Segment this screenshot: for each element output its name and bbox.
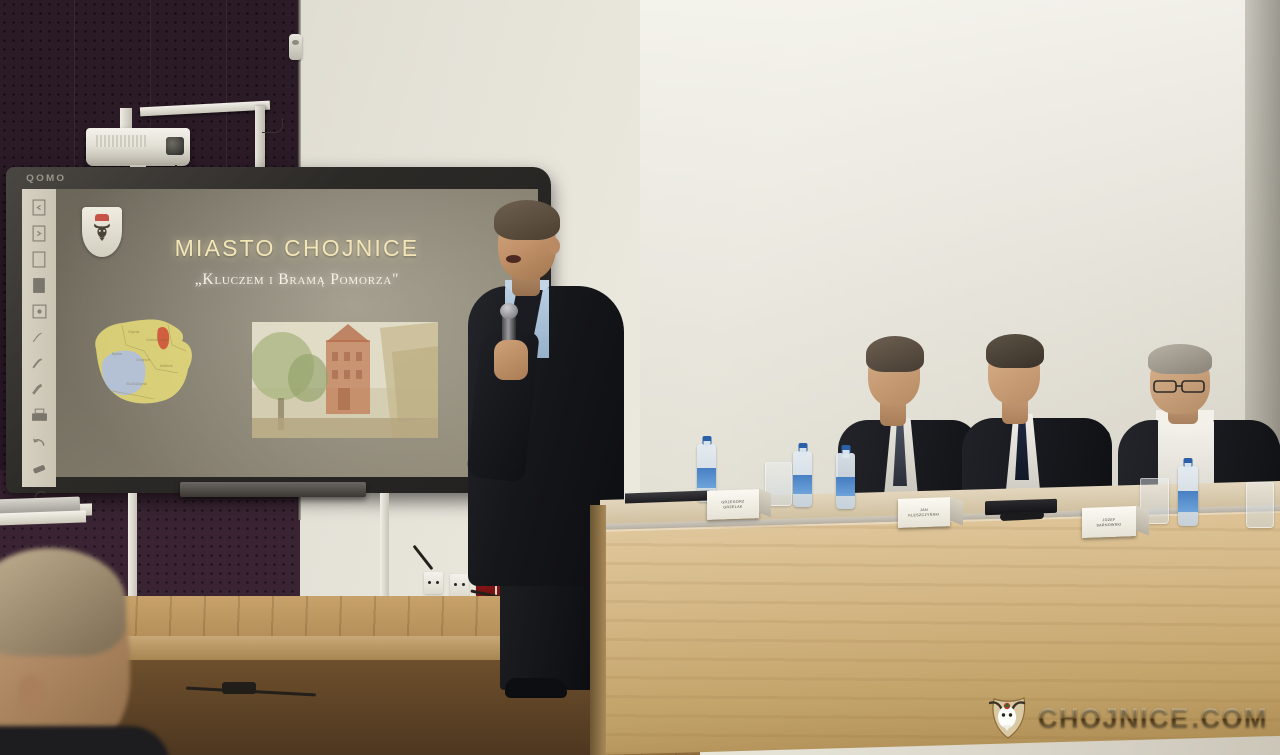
bottle-label (793, 475, 812, 494)
projector (86, 128, 190, 166)
bottle-label (1178, 491, 1198, 511)
motion-sensor-icon (289, 34, 302, 60)
bottle-neck (703, 441, 710, 449)
microphone-head-icon (500, 303, 518, 319)
projector-arm-post (255, 106, 265, 168)
eraser-icon[interactable] (31, 459, 48, 476)
speaker-mouth (506, 255, 521, 263)
panelist-3-hair (1148, 344, 1212, 374)
water-bottle[interactable] (793, 451, 812, 507)
projected-slide: MIASTO CHOJNICE „Kluczem i Bramą Pomorza… (56, 189, 538, 477)
whiteboard-surface[interactable]: MIASTO CHOJNICE „Kluczem i Bramą Pomorza… (22, 189, 538, 477)
nameplate-2-last: KLESZCZYŃSKI (908, 512, 939, 517)
panelist-2-hair (986, 334, 1044, 368)
water-bottle[interactable] (1178, 466, 1198, 526)
foreground-audience-shoulder (0, 726, 170, 755)
photo-scene: QOMO (0, 0, 1280, 755)
projector-vent (96, 135, 146, 147)
nameplate-3: JÓZEF SARNOWSKI (1082, 506, 1136, 538)
whiteboard-pen-tray (180, 482, 366, 497)
pen-medium-icon[interactable] (31, 355, 48, 372)
projector-lens-icon (166, 137, 184, 155)
svg-text:Chojnice: Chojnice (136, 358, 150, 362)
page-previous-icon[interactable] (31, 199, 48, 216)
nameplate-1: GRZEGORZ GRZELAK (707, 489, 759, 520)
bottle-label (697, 468, 716, 488)
nameplate-3-last: SARNOWSKI (1096, 522, 1121, 527)
eyeglasses-icon (1152, 378, 1210, 394)
nameplate-3-first: JÓZEF (1102, 517, 1115, 521)
speaker-hand (494, 340, 528, 380)
keyboard-icon[interactable] (31, 407, 48, 424)
bottle-neck (1185, 463, 1192, 471)
panelist-1-hair (866, 336, 924, 372)
bottle-neck (842, 450, 849, 458)
slide-title: MIASTO CHOJNICE (56, 235, 538, 262)
watermark: CHOJNICE .COM (984, 695, 1268, 741)
wall-corner-shadow (1245, 0, 1280, 470)
region-map-image: GdyniaGda\u0144sk BytówChojnice MalborkS… (82, 311, 222, 419)
nameplate-2-side (950, 496, 963, 525)
whiteboard-brand-label: QOMO (26, 173, 66, 183)
aurochs-head-crest-icon (984, 695, 1030, 741)
nameplate-2: JAN KLESZCZYŃSKI (898, 497, 950, 528)
slide-subtitle: „Kluczem i Bramą Pomorza" (56, 271, 538, 289)
table-left-side (590, 505, 606, 755)
speaker-hair (494, 200, 560, 240)
wall-socket[interactable] (424, 572, 443, 594)
nameplate-3-side (1136, 505, 1149, 535)
nameplate-1-last: GRZELAK (723, 505, 742, 510)
bottle-label (836, 477, 855, 496)
svg-text:Bytów: Bytów (112, 352, 122, 356)
speaker-ear (549, 238, 560, 254)
pen-thick-icon[interactable] (31, 381, 48, 398)
water-bottle[interactable] (836, 453, 855, 509)
svg-text:S\u0142upsk: S\u0142upsk (126, 382, 147, 386)
foreground-audience-ear (18, 676, 44, 710)
bottle-neck (799, 448, 806, 456)
watermark-tld: .COM (1192, 703, 1269, 734)
drinking-glass[interactable] (1246, 482, 1274, 528)
watermark-brand: CHOJNICE (1038, 703, 1190, 734)
nameplate-2-first: JAN (920, 508, 928, 512)
undo-icon[interactable] (31, 433, 48, 450)
speaker-shoe (505, 678, 567, 698)
gate-tower-photo (252, 322, 438, 438)
svg-text:Gda\u0144sk: Gda\u0144sk (146, 338, 168, 342)
cable-connector-box (222, 682, 256, 694)
fill-page-icon[interactable] (31, 277, 48, 294)
pen-thin-icon[interactable] (31, 329, 48, 346)
whiteboard-tool-rail[interactable] (22, 189, 56, 487)
svg-text:Malbork: Malbork (160, 364, 173, 368)
page-next-icon[interactable] (31, 225, 48, 242)
nameplate-1-side (759, 489, 771, 518)
new-page-icon[interactable] (31, 251, 48, 268)
wall-socket[interactable] (450, 574, 469, 596)
projector-wire (262, 118, 283, 133)
svg-text:Gdynia: Gdynia (128, 330, 139, 334)
screen-capture-icon[interactable] (31, 303, 48, 320)
nameplate-1-first: GRZEGORZ (721, 500, 744, 505)
